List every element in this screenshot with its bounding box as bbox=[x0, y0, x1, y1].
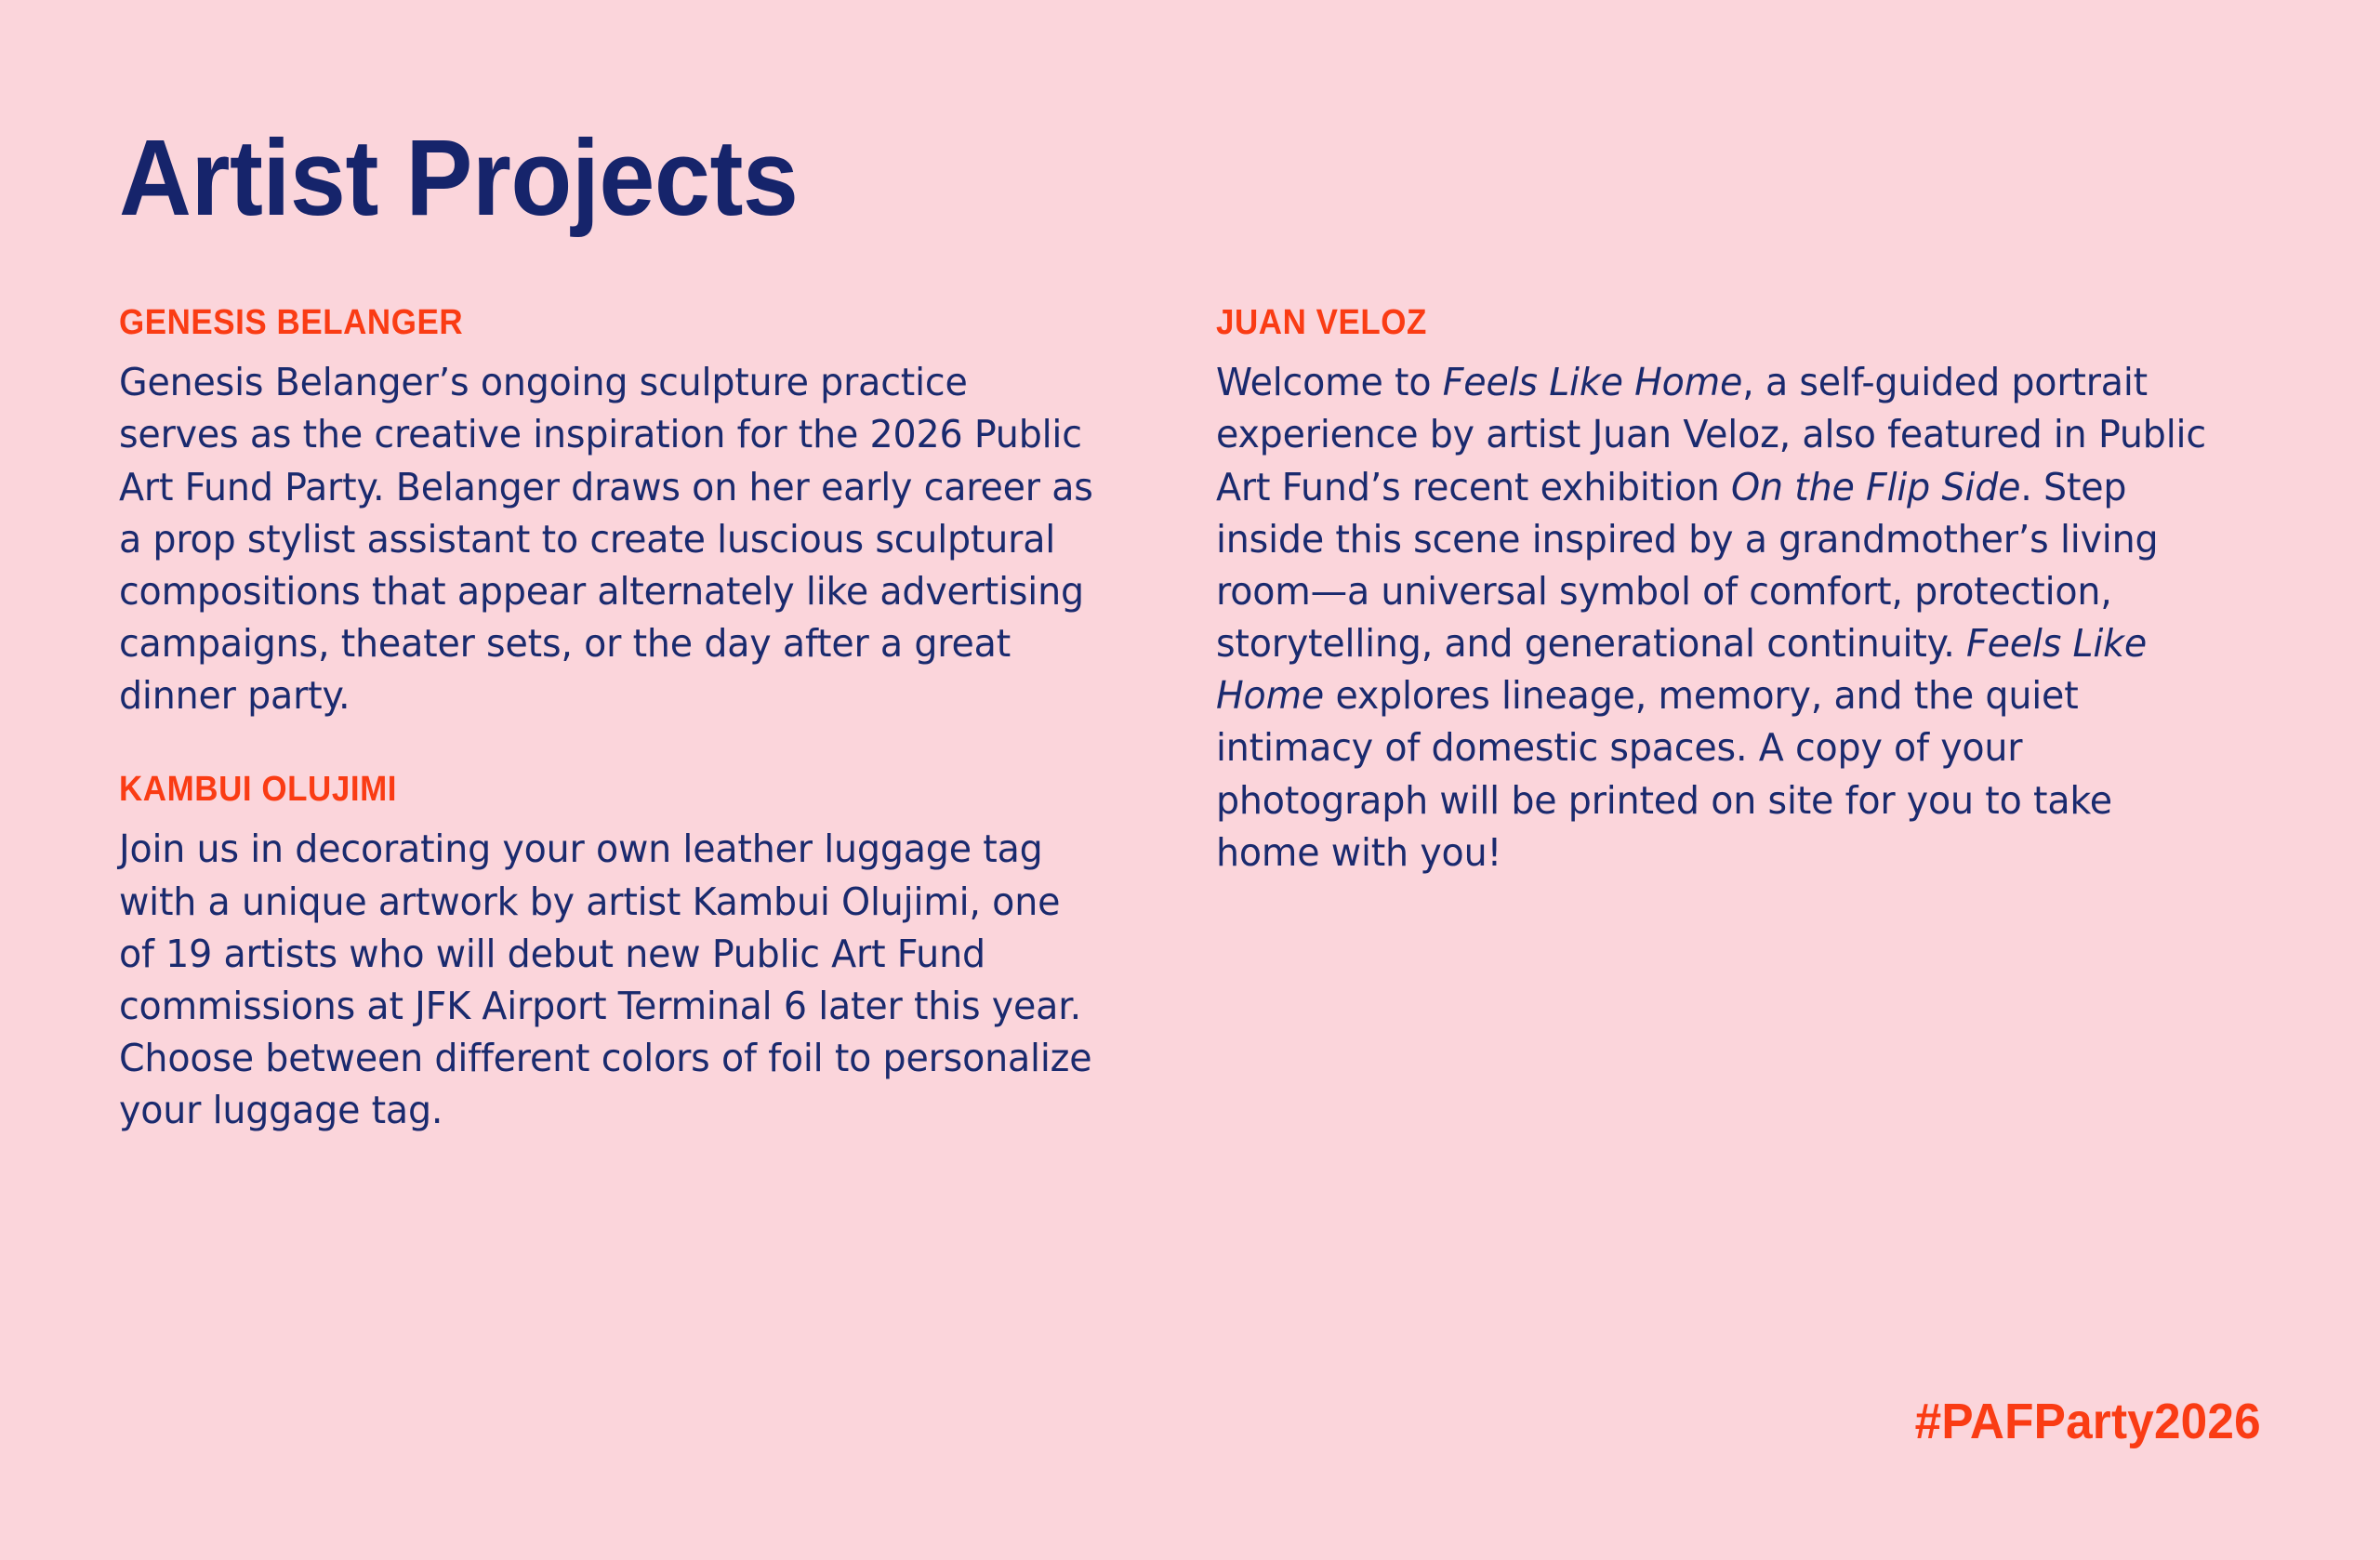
hashtag-label: #PAFParty2026 bbox=[1915, 1393, 2261, 1450]
section-heading-juan-veloz: JUAN VELOZ bbox=[1216, 303, 2177, 343]
column-left: GENESIS BELANGER Genesis Belanger’s ongo… bbox=[119, 303, 1216, 1136]
section-body-juan-veloz: Welcome to Feels Like Home, a self-guide… bbox=[1216, 356, 2225, 879]
column-right: JUAN VELOZ Welcome to Feels Like Home, a… bbox=[1216, 303, 2261, 879]
section-genesis-belanger: GENESIS BELANGER Genesis Belanger’s ongo… bbox=[119, 303, 1130, 721]
poster-canvas: Artist Projects GENESIS BELANGER Genesis… bbox=[0, 0, 2380, 1560]
section-juan-veloz: JUAN VELOZ Welcome to Feels Like Home, a… bbox=[1216, 303, 2261, 879]
page-title: Artist Projects bbox=[119, 0, 2111, 232]
section-heading-genesis-belanger: GENESIS BELANGER bbox=[119, 303, 1050, 343]
section-body-genesis-belanger: Genesis Belanger’s ongoing sculpture pra… bbox=[119, 356, 1095, 721]
section-body-kambui-olujimi: Join us in decorating your own leather l… bbox=[119, 823, 1095, 1136]
section-heading-kambui-olujimi: KAMBUI OLUJIMI bbox=[119, 770, 1050, 810]
section-kambui-olujimi: KAMBUI OLUJIMI Join us in decorating you… bbox=[119, 770, 1130, 1136]
content-columns: GENESIS BELANGER Genesis Belanger’s ongo… bbox=[119, 303, 2261, 1136]
